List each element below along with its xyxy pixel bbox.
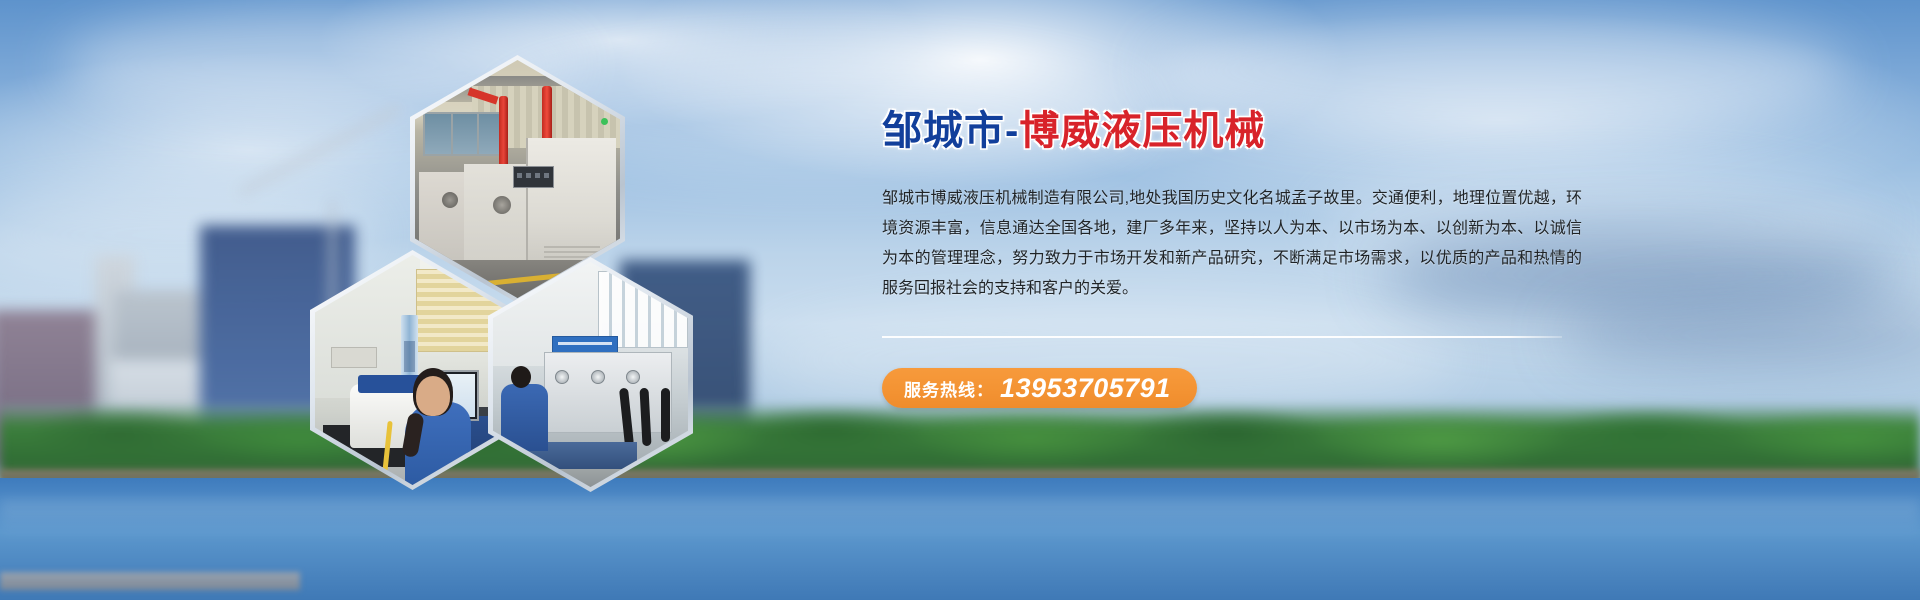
air-conditioner xyxy=(331,347,378,368)
company-description: 邹城市博威液压机械制造有限公司,地处我国历史文化名城孟子故里。交通便利，地理位置… xyxy=(882,184,1582,304)
company-title: 邹城市-博威液压机械 xyxy=(882,106,1582,156)
hotline-number: 13953705791 xyxy=(1000,373,1171,404)
company-title-city: 邹城市- xyxy=(882,109,1019,153)
hydraulic-hose xyxy=(661,388,670,442)
company-title-name: 博威液压机械 xyxy=(1019,109,1265,153)
machine-chuck xyxy=(442,192,458,208)
cloud-shadow xyxy=(1560,300,1920,370)
worker-head xyxy=(511,366,531,388)
red-pipe xyxy=(499,96,508,168)
hydraulic-test-machine xyxy=(544,352,673,433)
worker-body xyxy=(501,384,548,452)
company-hero-banner: 邹城市-博威液压机械 邹城市博威液压机械制造有限公司,地处我国历史文化名城孟子故… xyxy=(0,0,1920,600)
hexagon-photo-cluster xyxy=(300,55,700,435)
factory-window xyxy=(423,112,505,156)
technician-head xyxy=(416,376,450,416)
status-light xyxy=(601,118,608,125)
tree-line xyxy=(0,404,1920,480)
pier xyxy=(0,572,300,590)
hotline-button[interactable]: 服务热线： 13953705791 xyxy=(882,368,1197,408)
pressure-gauge xyxy=(591,370,605,384)
section-divider xyxy=(882,336,1562,338)
pressure-gauge xyxy=(626,370,640,384)
machine-chuck xyxy=(493,196,511,214)
control-panel xyxy=(513,166,554,188)
hotline-label: 服务热线： xyxy=(904,376,994,401)
banner-text-content: 邹城市-博威液压机械 邹城市博威液压机械制造有限公司,地处我国历史文化名城孟子故… xyxy=(882,106,1582,408)
water-reflection xyxy=(0,500,1920,540)
